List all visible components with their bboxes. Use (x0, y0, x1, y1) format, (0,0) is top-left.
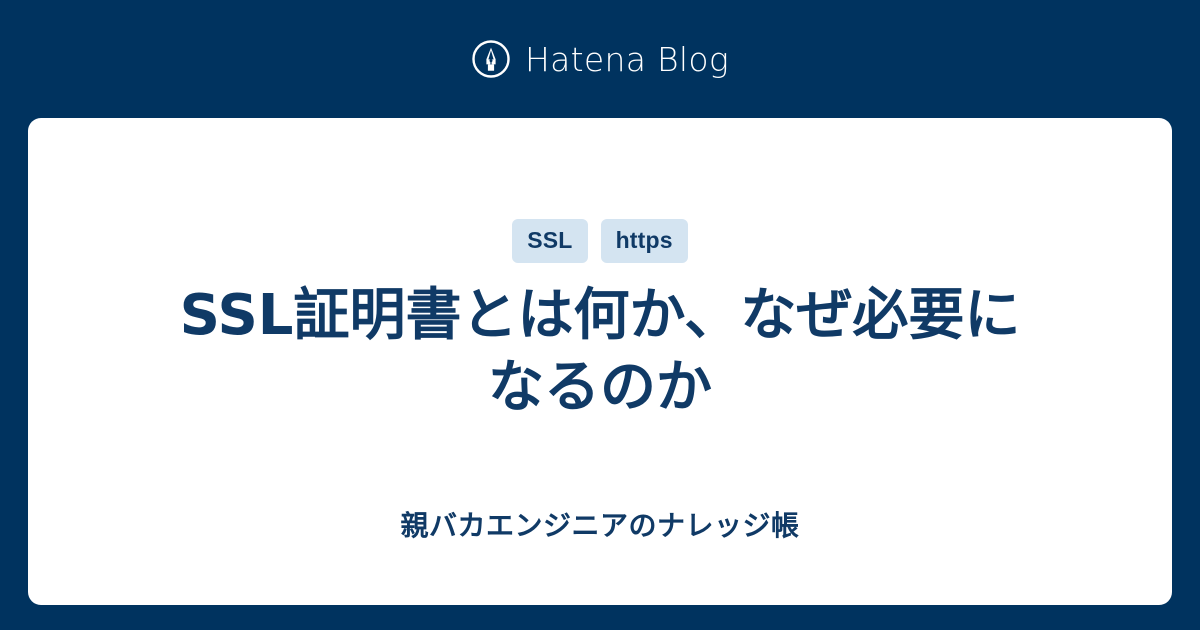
tag-list: SSL https (512, 219, 688, 263)
entry-title: SSL証明書とは何か、なぜ必要になるのか (70, 280, 1130, 423)
entry-card: SSL https SSL証明書とは何か、なぜ必要になるのか 親バカエンジニアの… (28, 118, 1172, 605)
tag-badge[interactable]: SSL (512, 219, 587, 263)
blog-name: 親バカエンジニアのナレッジ帳 (400, 509, 799, 543)
ogp-canvas: Hatena Blog SSL https SSL証明書とは何か、なぜ必要になる… (0, 0, 1200, 630)
pen-nib-in-circle-icon (471, 39, 511, 79)
tag-badge[interactable]: https (601, 219, 688, 263)
brand-header: Hatena Blog (0, 0, 1200, 118)
blog-name-container: 親バカエンジニアのナレッジ帳 (28, 509, 1172, 543)
brand-name: Hatena Blog (525, 43, 729, 76)
